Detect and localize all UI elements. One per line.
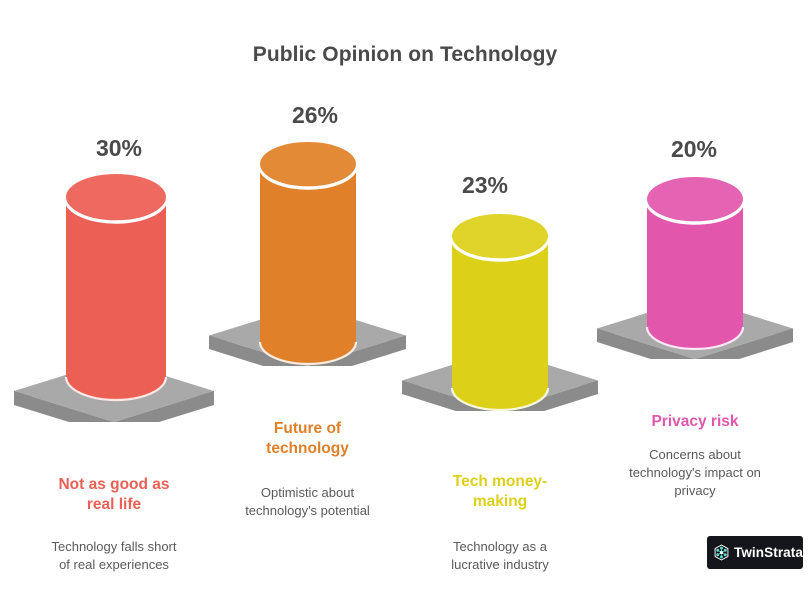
category-desc-4-line1: Concerns about <box>649 447 741 462</box>
category-desc-3-line2: lucrative industry <box>451 557 549 572</box>
category-title-3-line1: Tech money- <box>453 473 547 490</box>
category-desc-1: Technology falls short of real experienc… <box>14 538 214 574</box>
category-title-3-line2: making <box>473 493 527 510</box>
category-desc-3-line1: Technology as a <box>453 539 547 554</box>
cylinder-1 <box>64 172 168 407</box>
category-desc-2: Optimistic about technology's potential <box>209 484 406 520</box>
category-desc-1-line1: Technology falls short <box>51 539 176 554</box>
category-desc-2-line2: technology's potential <box>245 503 370 518</box>
cylinder-3 <box>450 212 550 417</box>
category-title-1-line2: real life <box>87 496 141 513</box>
category-title-4: Privacy risk <box>597 412 793 432</box>
value-label-2: 26% <box>250 102 380 129</box>
cylinder-2 <box>258 140 358 372</box>
category-desc-4-line2: technology's impact on <box>629 465 761 480</box>
category-title-4-line1: Privacy risk <box>651 413 738 430</box>
category-title-1-line1: Not as good as <box>58 476 169 493</box>
category-desc-3: Technology as a lucrative industry <box>402 538 598 574</box>
infographic-canvas: Public Opinion on Technology 30% Not as … <box>0 0 810 593</box>
value-label-4: 20% <box>629 136 759 163</box>
category-title-2-line1: Future of <box>274 420 341 437</box>
hex-network-icon <box>714 541 729 564</box>
category-title-2: Future of technology <box>209 419 406 460</box>
category-desc-1-line2: of real experiences <box>59 557 169 572</box>
value-label-3: 23% <box>420 172 550 199</box>
value-label-1: 30% <box>54 135 184 162</box>
category-title-3: Tech money- making <box>402 472 598 513</box>
category-desc-4-line3: privacy <box>674 483 715 498</box>
page-title: Public Opinion on Technology <box>0 43 810 67</box>
category-desc-2-line1: Optimistic about <box>261 485 354 500</box>
cylinder-4 <box>645 176 745 356</box>
brand-name: TwinStrata <box>734 545 803 560</box>
brand-badge: TwinStrata <box>707 536 803 569</box>
category-desc-4: Concerns about technology's impact on pr… <box>597 446 793 500</box>
category-title-1: Not as good as real life <box>14 475 214 516</box>
category-title-2-line2: technology <box>266 440 349 457</box>
